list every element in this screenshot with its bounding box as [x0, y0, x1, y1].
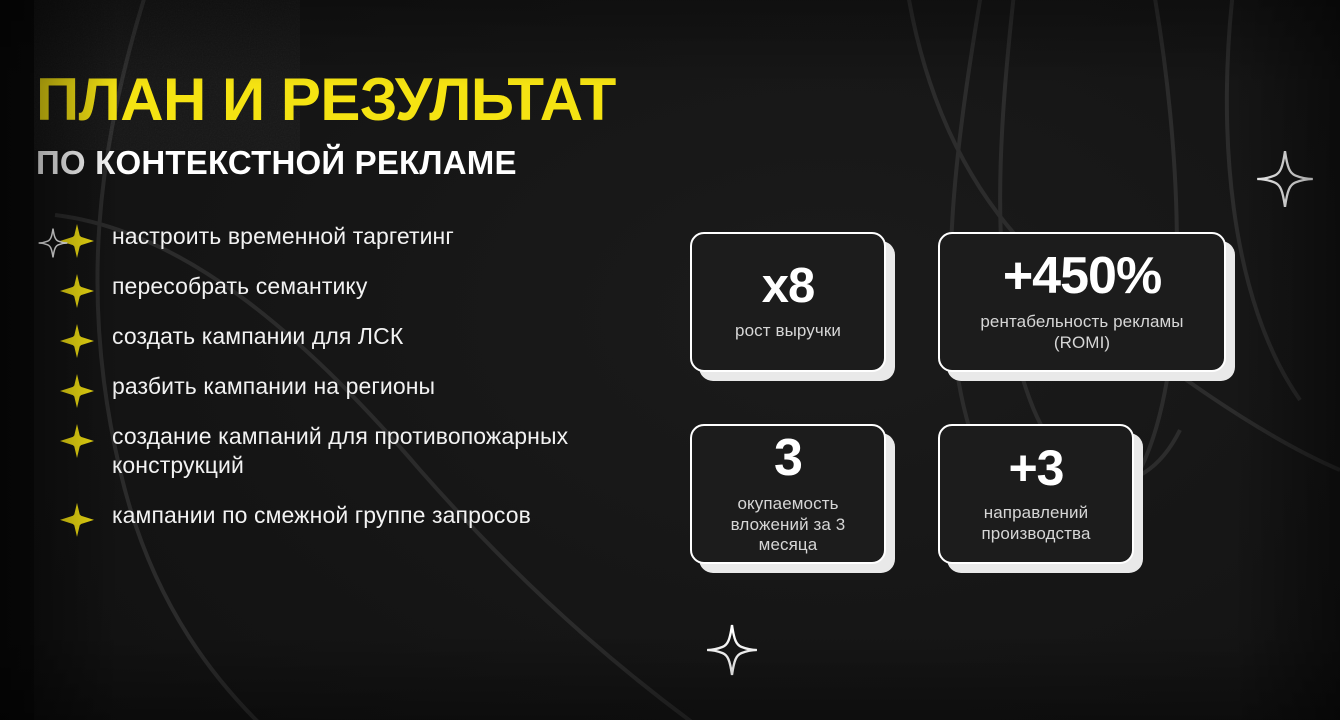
bullet-list: настроить временной таргетинг пересобрат… [60, 222, 660, 551]
stat-card-value: 3 [774, 432, 802, 484]
left-edge-band [0, 0, 34, 720]
list-item: создание кампаний для противопожарных ко… [60, 422, 660, 481]
list-item-label: кампании по смежной группе запросов [112, 501, 531, 530]
sparkle-star-icon [60, 424, 94, 458]
sparkle-star-icon [60, 274, 94, 308]
stat-card: x8 рост выручки [690, 232, 886, 372]
sparkle-star-icon [60, 224, 94, 258]
sparkle-star-icon [60, 324, 94, 358]
list-item: кампании по смежной группе запросов [60, 501, 660, 537]
stat-card-value: +450% [1003, 250, 1161, 302]
list-item: разбить кампании на регионы [60, 372, 660, 408]
list-item-label: разбить кампании на регионы [112, 372, 435, 401]
list-item-label: настроить временной таргетинг [112, 222, 454, 251]
stat-card: +450% рентабельность рекламы (ROMI) [938, 232, 1226, 372]
list-item-label: пересобрать семантику [112, 272, 367, 301]
slide-canvas: ПЛАН И РЕЗУЛЬТАТ ПО КОНТЕКСТНОЙ РЕКЛАМЕ … [0, 0, 1340, 720]
stat-card-label: направлений производства [952, 503, 1120, 544]
stat-card-label: окупаемость вложений за 3 месяца [704, 494, 872, 556]
list-item: пересобрать семантику [60, 272, 660, 308]
list-item-label: создание кампаний для противопожарных ко… [112, 422, 660, 481]
list-item-label: создать кампании для ЛСК [112, 322, 403, 351]
list-item: создать кампании для ЛСК [60, 322, 660, 358]
list-item: настроить временной таргетинг [60, 222, 660, 258]
sparkle-star-icon [60, 374, 94, 408]
page-title: ПЛАН И РЕЗУЛЬТАТ [36, 70, 616, 130]
stat-card-value: x8 [762, 262, 815, 311]
stat-card-value: +3 [1008, 443, 1063, 493]
page-subtitle: ПО КОНТЕКСТНОЙ РЕКЛАМЕ [36, 146, 517, 179]
stat-card-label: рост выручки [735, 321, 841, 342]
sparkle-star-icon [60, 503, 94, 537]
stat-card: +3 направлений производства [938, 424, 1134, 564]
stat-card-label: рентабельность рекламы (ROMI) [952, 312, 1212, 353]
stat-card: 3 окупаемость вложений за 3 месяца [690, 424, 886, 564]
